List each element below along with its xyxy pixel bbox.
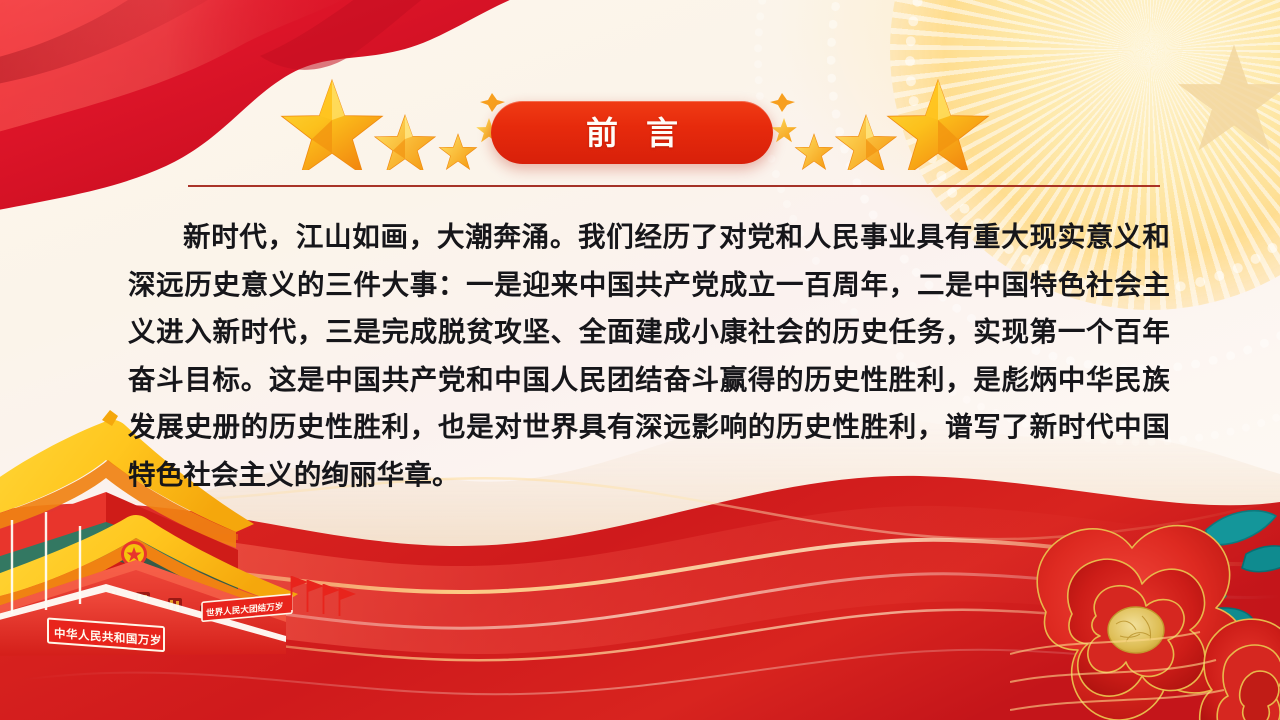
svg-text:中华人民共和国万岁: 中华人民共和国万岁 — [54, 626, 162, 648]
peony-flower-decoration — [1010, 504, 1280, 720]
star-right-2 — [836, 115, 896, 170]
svg-text:世界人民大团结万岁: 世界人民大团结万岁 — [206, 600, 283, 618]
star-left-3 — [439, 134, 476, 169]
star-right-3 — [795, 134, 832, 169]
star-right-5 — [770, 93, 795, 112]
section-title-badge[interactable]: 前 言 — [491, 101, 773, 164]
banner-left: 中华人民共和国万岁 — [48, 619, 164, 652]
star-left-1 — [282, 80, 383, 170]
slide-canvas: 中华人民共和国万岁 世界人民大团结万岁 — [0, 0, 1280, 720]
star-right-1 — [888, 80, 989, 170]
page-title: 前 言 — [576, 117, 687, 149]
star-left-2 — [375, 115, 435, 170]
banner-right: 世界人民大团结万岁 — [202, 594, 292, 621]
star-right-4 — [771, 118, 797, 142]
small-flags — [291, 576, 356, 616]
preface-body-text: 新时代，江山如画，大潮奔涌。我们经历了对党和人民事业具有重大现实意义和深远历史意… — [128, 213, 1170, 498]
title-divider-line — [188, 185, 1160, 187]
